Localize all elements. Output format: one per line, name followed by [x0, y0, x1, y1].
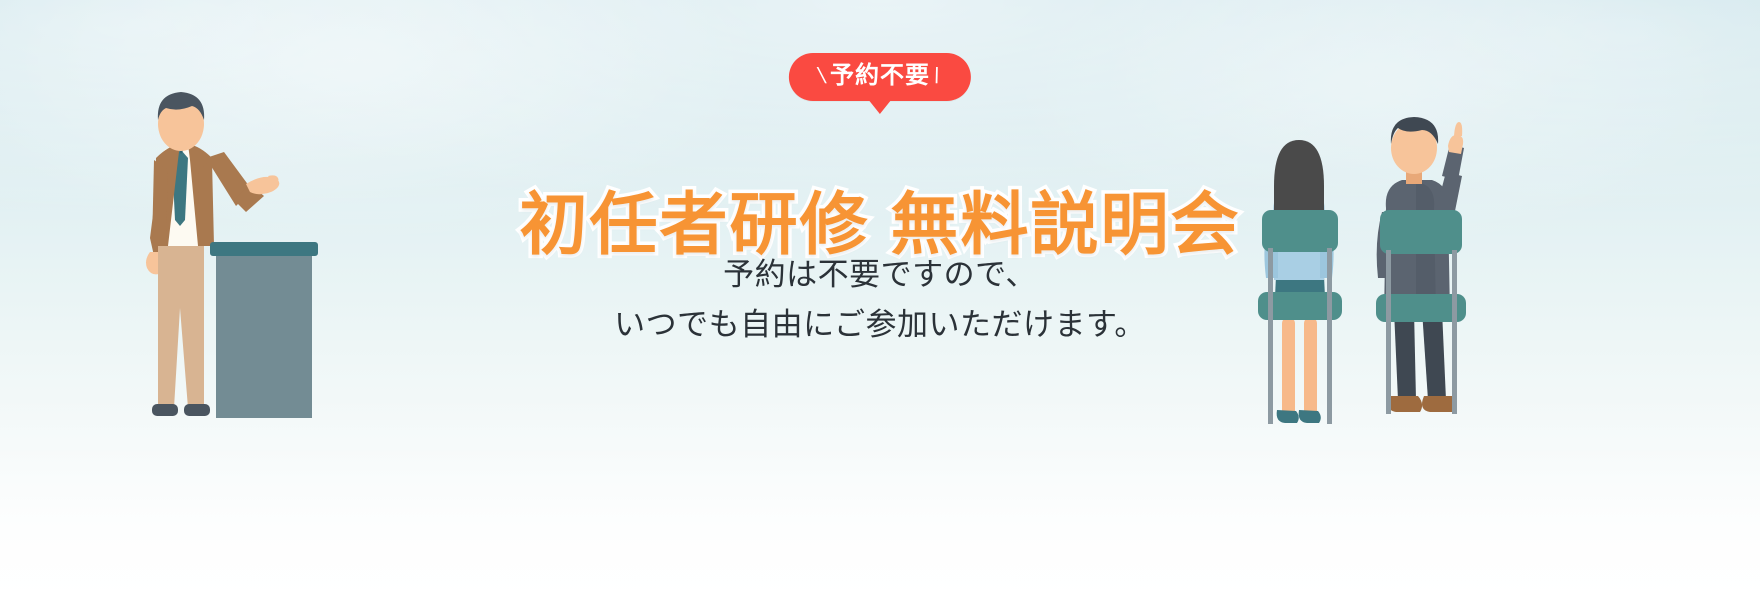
- presenter-at-podium-illustration: [118, 88, 318, 433]
- description-text: 予約は不要ですので、 いつでも自由にご参加いただけます。: [330, 250, 1430, 350]
- description-line-2: いつでも自由にご参加いただけます。: [330, 300, 1430, 350]
- badge-slash-right-icon: /: [927, 64, 948, 88]
- promo-banner: \予約不要/ 初任者研修 無料説明会 予約は不要ですので、 いつでも自由にご参加…: [0, 0, 1760, 600]
- no-reservation-badge-wrapper: \予約不要/: [789, 53, 971, 101]
- badge-pointer-icon: [868, 99, 892, 114]
- banner-content: \予約不要/ 初任者研修 無料説明会 予約は不要ですので、 いつでも自由にご参加…: [330, 0, 1430, 600]
- no-reservation-badge: \予約不要/: [789, 53, 971, 101]
- description-line-1: 予約は不要ですので、: [330, 250, 1430, 300]
- badge-label: 予約不要: [830, 62, 930, 89]
